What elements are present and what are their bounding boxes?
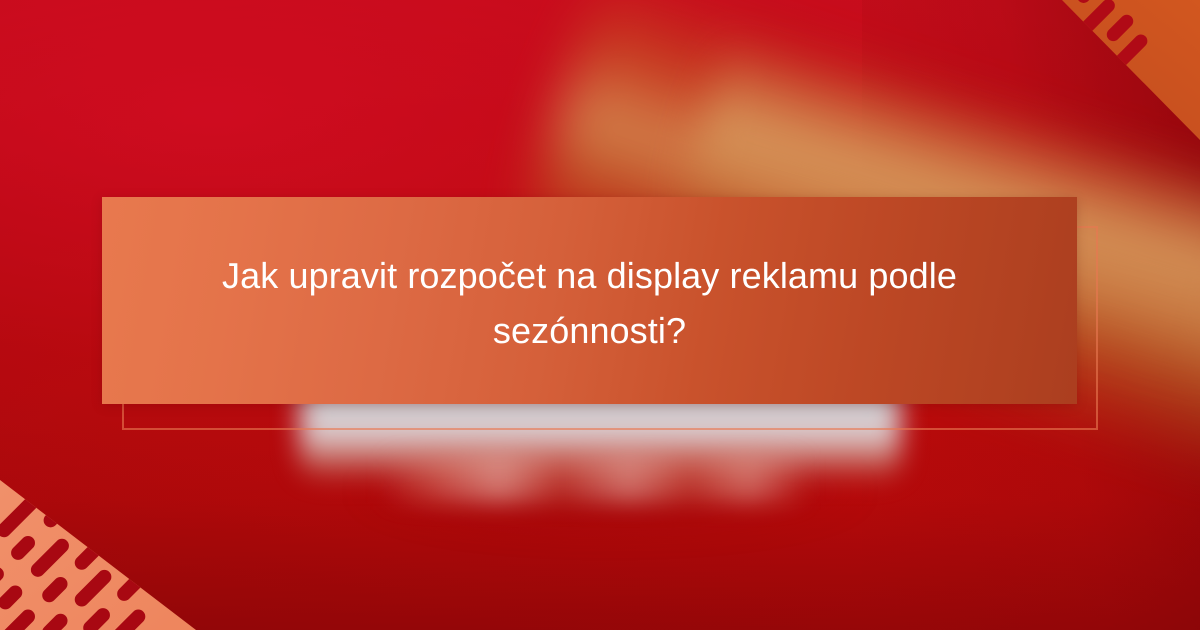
og-image-card: Jak upravit rozpočet na display reklamu … <box>0 0 1200 630</box>
title-banner: Jak upravit rozpočet na display reklamu … <box>102 197 1077 404</box>
page-title: Jak upravit rozpočet na display reklamu … <box>158 249 1021 358</box>
blurred-object-base <box>380 455 810 503</box>
